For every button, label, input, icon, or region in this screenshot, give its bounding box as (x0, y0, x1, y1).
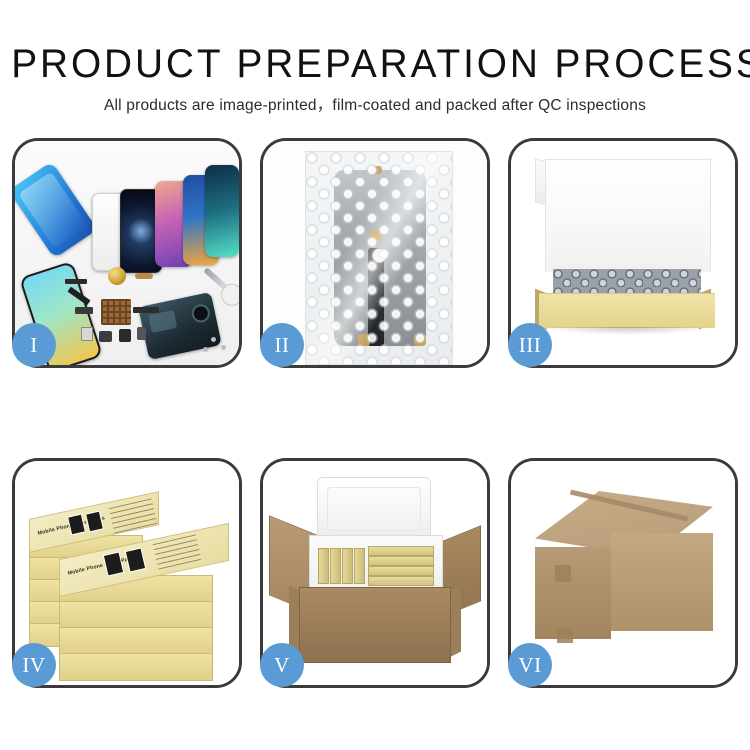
process-grid: I II (12, 138, 738, 690)
phone-display-teal-icon (205, 165, 239, 257)
infographic-page: PRODUCT PREPARATION PROCESS All products… (0, 0, 750, 750)
part-icon (75, 307, 93, 314)
kraft-box-icon (342, 548, 353, 584)
part-icon (81, 327, 93, 341)
speaker-module-icon (108, 267, 126, 285)
step-badge-4: IV (12, 643, 56, 687)
page-subtitle: All products are image-printed，film-coat… (0, 84, 750, 114)
kraft-box-icon (368, 556, 434, 566)
box-stack-icon: Mobile Phone Spare Parts Mobile Phone Sp… (23, 479, 237, 675)
step-panel-5: V (260, 458, 490, 688)
screw-icon (221, 345, 226, 350)
step-badge-6: VI (508, 643, 552, 687)
part-icon (135, 273, 153, 279)
step-panel-4: Mobile Phone Spare Parts Mobile Phone Sp… (12, 458, 242, 688)
kraft-box-icon (318, 548, 329, 584)
screw-icon (203, 347, 208, 352)
step-panel-6: VI (508, 458, 738, 688)
plastic-sheen-icon (306, 152, 452, 364)
foam-liner-icon (551, 203, 703, 269)
step-panel-1: I (12, 138, 242, 368)
part-icon (137, 327, 146, 340)
part-icon (119, 329, 131, 342)
kraft-box-icon (368, 546, 434, 556)
bubble-bag-icon (305, 151, 453, 365)
kraft-box-icon (368, 576, 434, 586)
kraft-box-icon (330, 548, 341, 584)
kraft-box-icon (368, 566, 434, 576)
carton-face-left-icon (535, 547, 611, 639)
box-shadow (541, 327, 713, 335)
part-icon (65, 279, 87, 284)
carton-front-icon (299, 587, 451, 663)
carton-tape-icon (555, 565, 571, 582)
part-icon (99, 331, 112, 342)
kraft-box-front-icon (539, 293, 715, 328)
step-panel-2: II (260, 138, 490, 368)
step-panel-3: III (508, 138, 738, 368)
header: PRODUCT PREPARATION PROCESS All products… (0, 0, 750, 114)
page-title: PRODUCT PREPARATION PROCESS (11, 0, 739, 84)
chip-grid-icon (101, 299, 131, 325)
carton-face-right-icon (611, 533, 713, 631)
step-badge-1: I (12, 323, 56, 367)
step-badge-5: V (260, 643, 304, 687)
part-icon (133, 307, 159, 313)
step-badge-3: III (508, 323, 552, 367)
carton-tape-icon (557, 629, 573, 643)
foam-lid-icon (317, 477, 431, 541)
kraft-box-icon (354, 548, 365, 584)
step-badge-2: II (260, 323, 304, 367)
screw-icon (211, 337, 216, 342)
